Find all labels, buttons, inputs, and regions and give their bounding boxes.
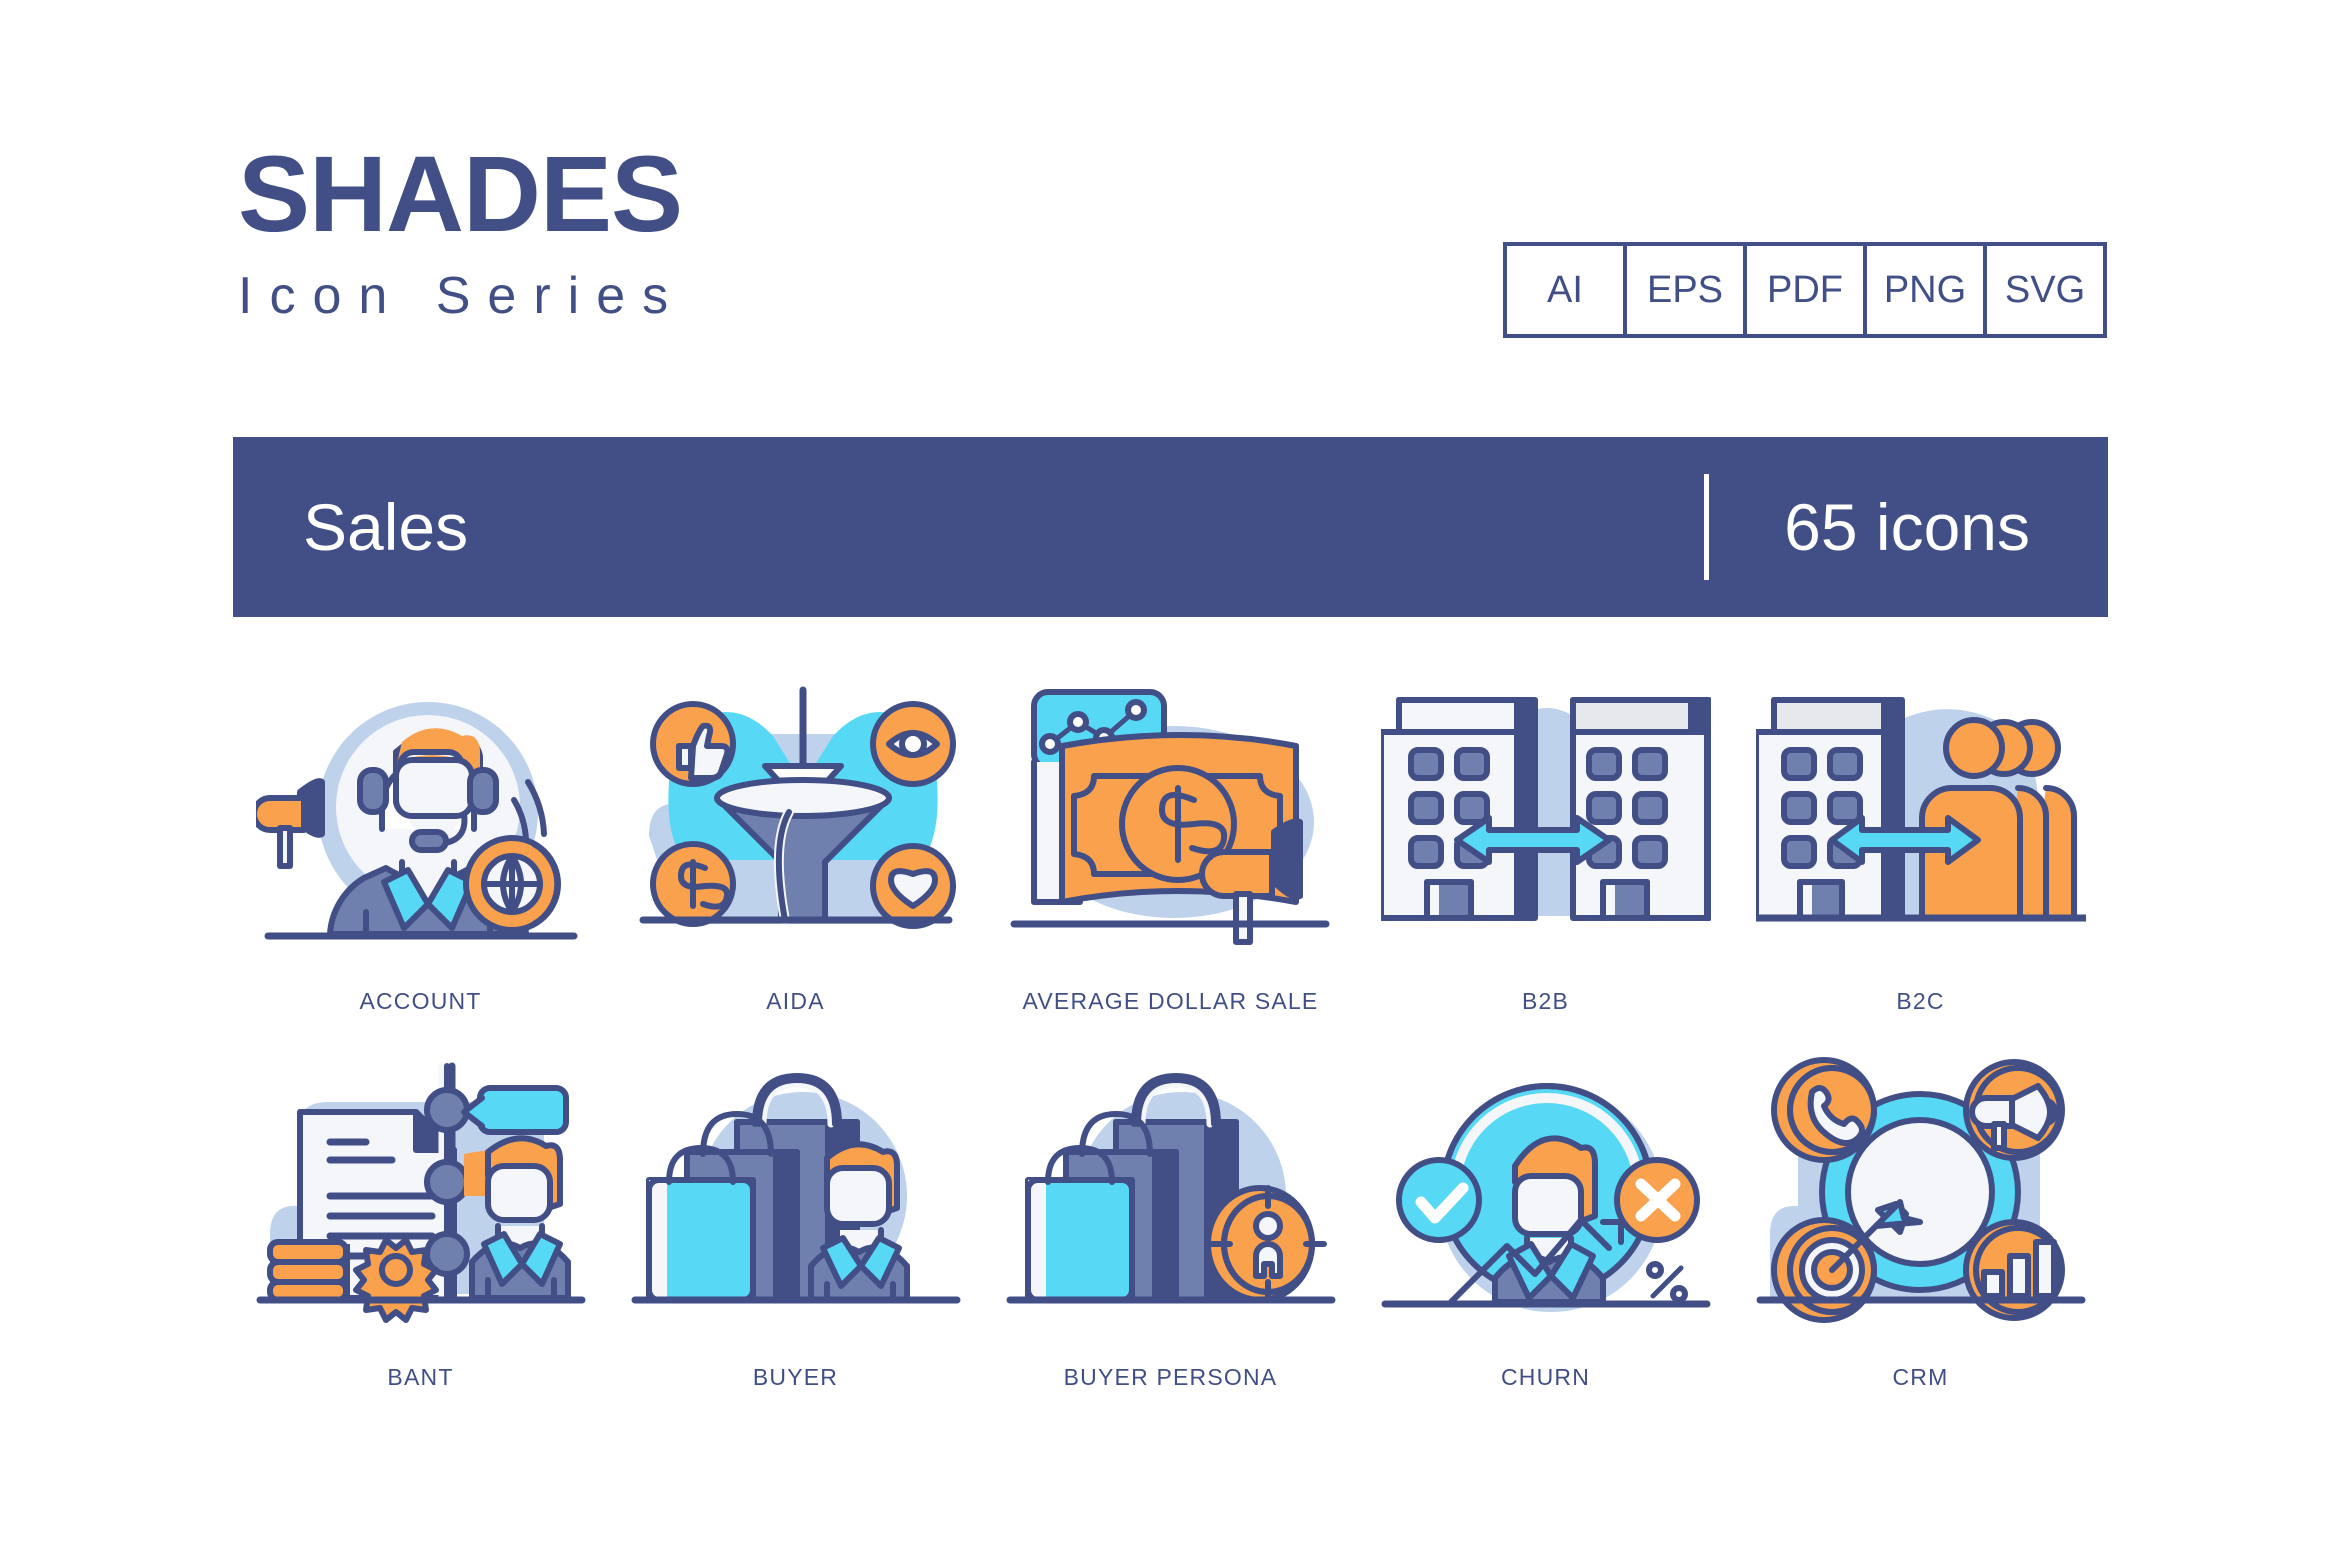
b2b-icon bbox=[1381, 672, 1711, 972]
format-badge-svg: SVG bbox=[1987, 246, 2103, 334]
format-badge-eps: EPS bbox=[1627, 246, 1747, 334]
page-subtitle: Icon Series bbox=[238, 270, 685, 322]
icon-count-label: 65 icons bbox=[1784, 489, 2030, 565]
b2c-icon bbox=[1756, 672, 2086, 972]
icon-label: BANT bbox=[387, 1364, 453, 1424]
buyer-icon bbox=[631, 1048, 961, 1348]
account-icon bbox=[256, 672, 586, 972]
brand-header: SHADES Icon Series bbox=[238, 140, 685, 322]
category-banner: Sales 65 icons bbox=[233, 437, 2108, 617]
average-dollar-sale-icon bbox=[1006, 672, 1336, 972]
icon-cell-bant: BANT bbox=[233, 1048, 608, 1424]
icon-cell-aida: AIDA bbox=[608, 672, 983, 1048]
file-format-list: AI EPS PDF PNG SVG bbox=[1503, 242, 2107, 338]
icon-label: AIDA bbox=[766, 988, 824, 1048]
banner-right-group: 65 icons bbox=[1704, 437, 2108, 617]
page-title: SHADES bbox=[238, 140, 685, 248]
icon-label: B2C bbox=[1896, 988, 1944, 1048]
churn-icon bbox=[1381, 1048, 1711, 1348]
icon-sheet-page: SHADES Icon Series AI EPS PDF PNG SVG Sa… bbox=[0, 0, 2340, 1560]
aida-icon bbox=[631, 672, 961, 972]
icon-label: CRM bbox=[1893, 1364, 1949, 1424]
icon-label: BUYER PERSONA bbox=[1064, 1364, 1278, 1424]
icon-grid: ACCOUNT bbox=[233, 672, 2108, 1424]
icon-label: ACCOUNT bbox=[359, 988, 481, 1048]
icon-cell-buyer-persona: BUYER PERSONA bbox=[983, 1048, 1358, 1424]
banner-divider bbox=[1704, 474, 1709, 580]
icon-cell-b2c: B2C bbox=[1733, 672, 2108, 1048]
icon-label: AVERAGE DOLLAR SALE bbox=[1023, 988, 1319, 1048]
icon-cell-crm: CRM bbox=[1733, 1048, 2108, 1424]
bant-icon bbox=[256, 1048, 586, 1348]
icon-cell-account: ACCOUNT bbox=[233, 672, 608, 1048]
icon-label: CHURN bbox=[1501, 1364, 1590, 1424]
icon-cell-buyer: BUYER bbox=[608, 1048, 983, 1424]
icon-label: B2B bbox=[1522, 988, 1569, 1048]
format-badge-png: PNG bbox=[1867, 246, 1987, 334]
crm-icon bbox=[1756, 1048, 2086, 1348]
category-name: Sales bbox=[303, 489, 468, 565]
buyer-persona-icon bbox=[1006, 1048, 1336, 1348]
format-badge-ai: AI bbox=[1507, 246, 1627, 334]
format-badge-pdf: PDF bbox=[1747, 246, 1867, 334]
icon-cell-average-dollar-sale: AVERAGE DOLLAR SALE bbox=[983, 672, 1358, 1048]
icon-cell-b2b: B2B bbox=[1358, 672, 1733, 1048]
icon-label: BUYER bbox=[753, 1364, 838, 1424]
icon-cell-churn: CHURN bbox=[1358, 1048, 1733, 1424]
